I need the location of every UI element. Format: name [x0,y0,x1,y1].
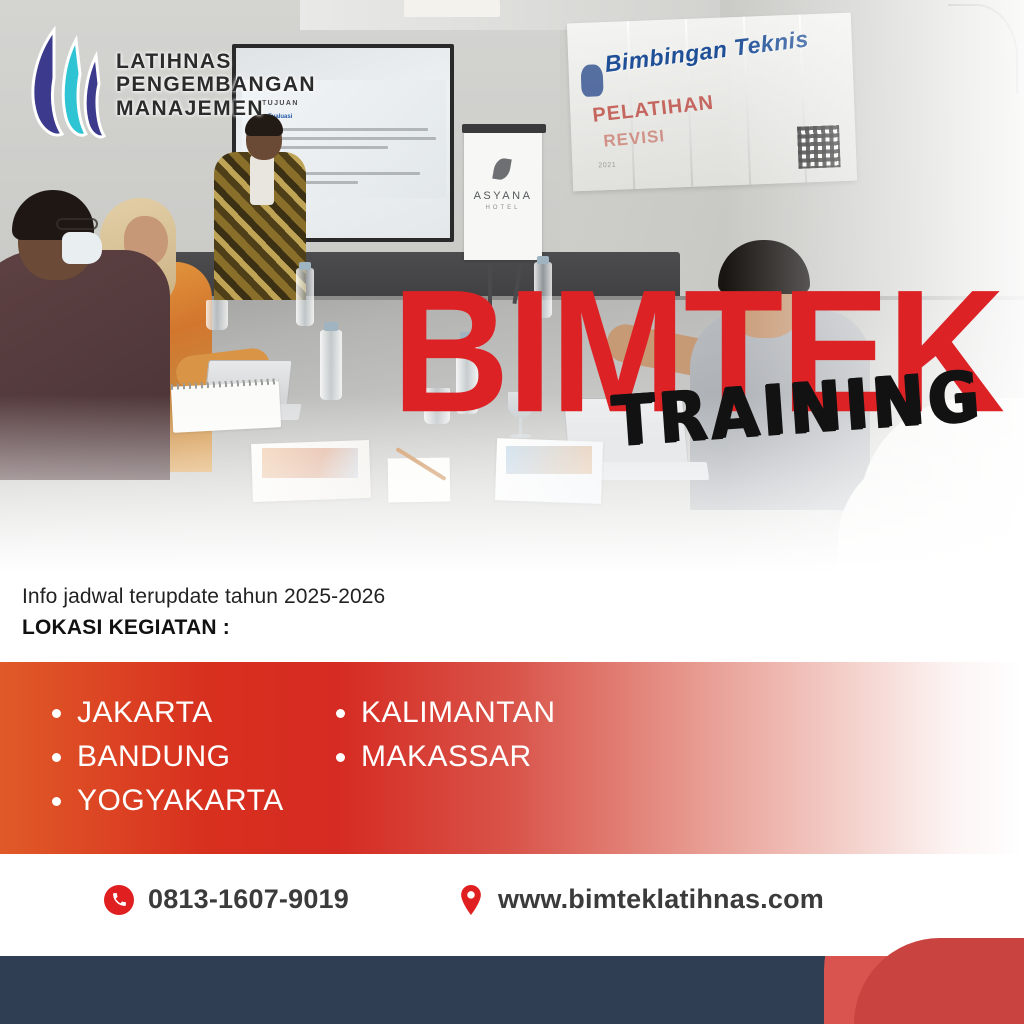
attendee-one-glasses [56,218,98,230]
schedule-info: Info jadwal terupdate tahun 2025-2026 [22,585,385,609]
map-pin-icon [458,885,484,915]
phone-icon [104,885,134,915]
latihnas-logo-icon [24,26,108,144]
banner-logo-icon [580,64,603,97]
website-url: www.bimteklatihnas.com [498,884,824,915]
ceiling-light [404,0,500,17]
bullet-icon [336,753,345,762]
contact-row: 0813-1607-9019 www.bimteklatihnas.com [0,860,1024,956]
list-item: BANDUNG [52,740,284,774]
drinking-glass [206,300,228,330]
slide-text-line [278,146,388,149]
flipchart-clamp [462,124,546,133]
bullet-icon [52,797,61,806]
bottle-cap [299,262,311,270]
brand-logo: LATIHNAS PENGEMBANGAN MANAJEMEN [24,26,316,144]
banner-red-line-1: PELATIHAN [591,92,715,128]
attendee-one [0,250,170,480]
spiral-notebook [171,381,281,433]
city-label: BANDUNG [77,740,231,774]
qr-code [797,125,841,169]
phone-number: 0813-1607-9019 [148,884,349,915]
logo-line-3: MANAJEMEN [116,97,316,121]
logo-line-2: PENGEMBANGAN [116,73,316,97]
banner-small-note: 2021 [598,162,616,170]
website-contact[interactable]: www.bimteklatihnas.com [458,884,824,915]
brochure-left-image [262,448,358,478]
city-label: KALIMANTAN [361,696,555,730]
hotel-subtitle: HOTEL [464,205,542,211]
list-item: YOGYAKARTA [52,784,284,818]
locations-label: LOKASI KEGIATAN : [22,616,230,640]
banner-red-line-2: REVISI [603,126,666,152]
promo-poster: TUJUAN Evaluasi ASYANA HOTEL Bimbingan T… [0,0,1024,1024]
attendee-one-mask [62,232,102,264]
presenter-inner-shirt [250,155,274,205]
wall-banner: Bimbingan Teknis PELATIHAN REVISI 2021 [567,13,857,192]
city-label: MAKASSAR [361,740,532,774]
bullet-icon [336,709,345,718]
list-item: JAKARTA [52,696,284,730]
locations-column-right: KALIMANTAN MAKASSAR [336,696,555,784]
brochure-right-image [506,446,592,474]
locations-column-left: JAKARTA BANDUNG YOGYAKARTA [52,696,284,828]
water-bottle [320,330,342,400]
phone-contact[interactable]: 0813-1607-9019 [104,884,349,915]
banner-title: Bimbingan Teknis [603,25,810,78]
bottle-cap [324,322,338,331]
slide-text-line [286,172,420,175]
city-label: YOGYAKARTA [77,784,284,818]
bullet-icon [52,753,61,762]
list-item: MAKASSAR [336,740,555,774]
hotel-name: ASYANA [464,190,542,202]
bullet-icon [52,709,61,718]
list-item: KALIMANTAN [336,696,555,730]
logo-line-1: LATIHNAS [116,50,316,74]
city-label: JAKARTA [77,696,213,730]
water-bottle [296,268,314,326]
locations-list: JAKARTA BANDUNG YOGYAKARTA KALIMANTAN MA… [0,662,1024,854]
